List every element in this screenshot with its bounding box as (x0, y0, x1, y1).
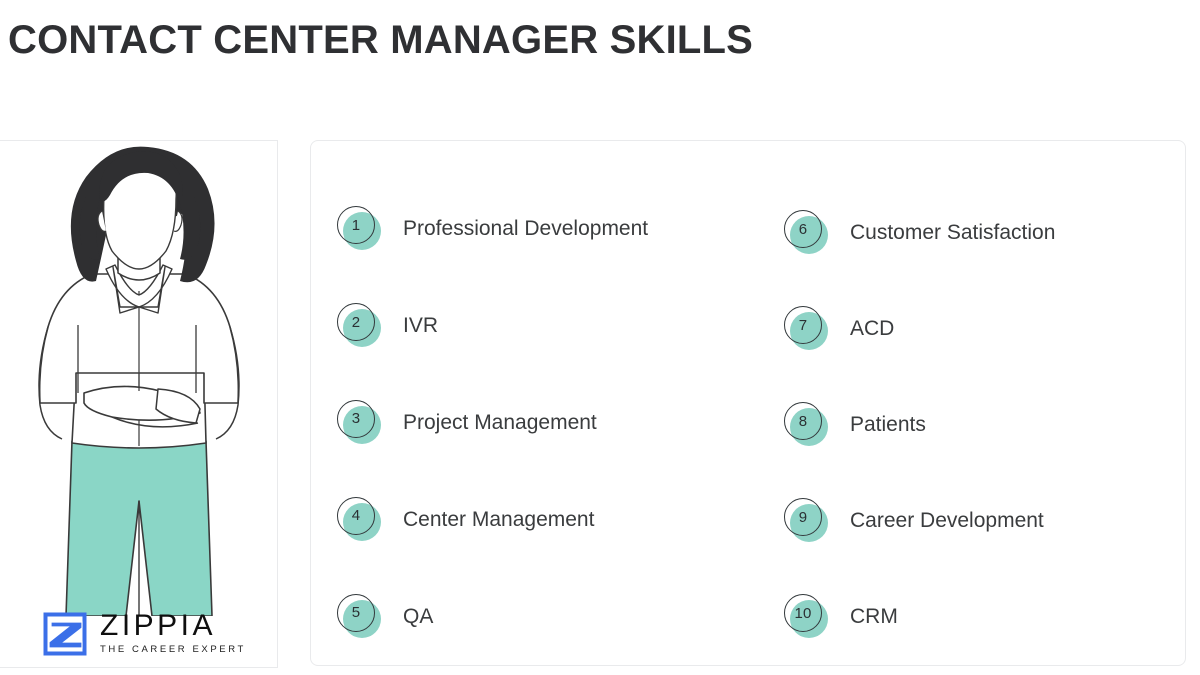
badge-number: 8 (799, 414, 808, 429)
skill-label: QA (403, 604, 433, 630)
skill-label: Project Management (403, 410, 597, 436)
zippia-logo-mark (42, 611, 88, 657)
skill-item-5: 5 QA (337, 568, 748, 665)
skill-label: Professional Development (403, 216, 648, 242)
skill-item-10: 10 CRM (784, 569, 1185, 665)
badge-ring: 6 (784, 210, 822, 248)
skill-number-badge: 2 (337, 303, 383, 349)
skills-card: 1 Professional Development 2 IVR (310, 140, 1186, 666)
skill-number-badge: 10 (784, 594, 830, 640)
badge-number: 1 (352, 218, 361, 233)
badge-ring: 8 (784, 402, 822, 440)
skill-number-badge: 6 (784, 210, 830, 256)
skill-number-badge: 5 (337, 594, 383, 640)
badge-ring: 7 (784, 306, 822, 344)
illustration-panel: ZIPPIA THE CAREER EXPERT (0, 140, 278, 668)
skill-number-badge: 7 (784, 306, 830, 352)
skill-number-badge: 8 (784, 402, 830, 448)
badge-number: 10 (794, 606, 811, 621)
skill-item-8: 8 Patients (784, 377, 1185, 473)
badge-ring: 10 (784, 594, 822, 632)
badge-number: 6 (799, 222, 808, 237)
skill-number-badge: 3 (337, 400, 383, 446)
badge-ring: 3 (337, 400, 375, 438)
badge-number: 9 (799, 510, 808, 525)
badge-ring: 9 (784, 498, 822, 536)
skill-label: IVR (403, 313, 438, 339)
skill-item-4: 4 Center Management (337, 471, 748, 568)
skill-item-1: 1 Professional Development (337, 181, 748, 278)
woman-illustration (0, 141, 278, 616)
skill-label: ACD (850, 316, 894, 342)
skill-number-badge: 9 (784, 498, 830, 544)
skill-number-badge: 4 (337, 497, 383, 543)
zippia-logo: ZIPPIA THE CAREER EXPERT (42, 611, 246, 657)
skills-right-column: 6 Customer Satisfaction 7 ACD (748, 141, 1185, 665)
page-title: CONTACT CENTER MANAGER SKILLS (8, 16, 753, 64)
badge-number: 7 (799, 318, 808, 333)
badge-number: 2 (352, 315, 361, 330)
skills-columns: 1 Professional Development 2 IVR (311, 141, 1185, 665)
skill-label: Patients (850, 412, 926, 438)
skills-left-column: 1 Professional Development 2 IVR (311, 141, 748, 665)
skill-label: Center Management (403, 507, 594, 533)
skill-item-6: 6 Customer Satisfaction (784, 185, 1185, 281)
zippia-tagline: THE CAREER EXPERT (100, 643, 246, 657)
badge-ring: 4 (337, 497, 375, 535)
badge-ring: 2 (337, 303, 375, 341)
skill-item-7: 7 ACD (784, 281, 1185, 377)
skill-number-badge: 1 (337, 206, 383, 252)
badge-number: 4 (352, 508, 361, 523)
skill-item-3: 3 Project Management (337, 375, 748, 472)
skill-label: Career Development (850, 508, 1044, 534)
badge-number: 5 (352, 605, 361, 620)
badge-number: 3 (352, 411, 361, 426)
zippia-wordmark: ZIPPIA (100, 611, 246, 641)
badge-ring: 5 (337, 594, 375, 632)
skill-label: Customer Satisfaction (850, 220, 1055, 246)
skill-item-9: 9 Career Development (784, 473, 1185, 569)
skill-item-2: 2 IVR (337, 278, 748, 375)
skill-label: CRM (850, 604, 898, 630)
